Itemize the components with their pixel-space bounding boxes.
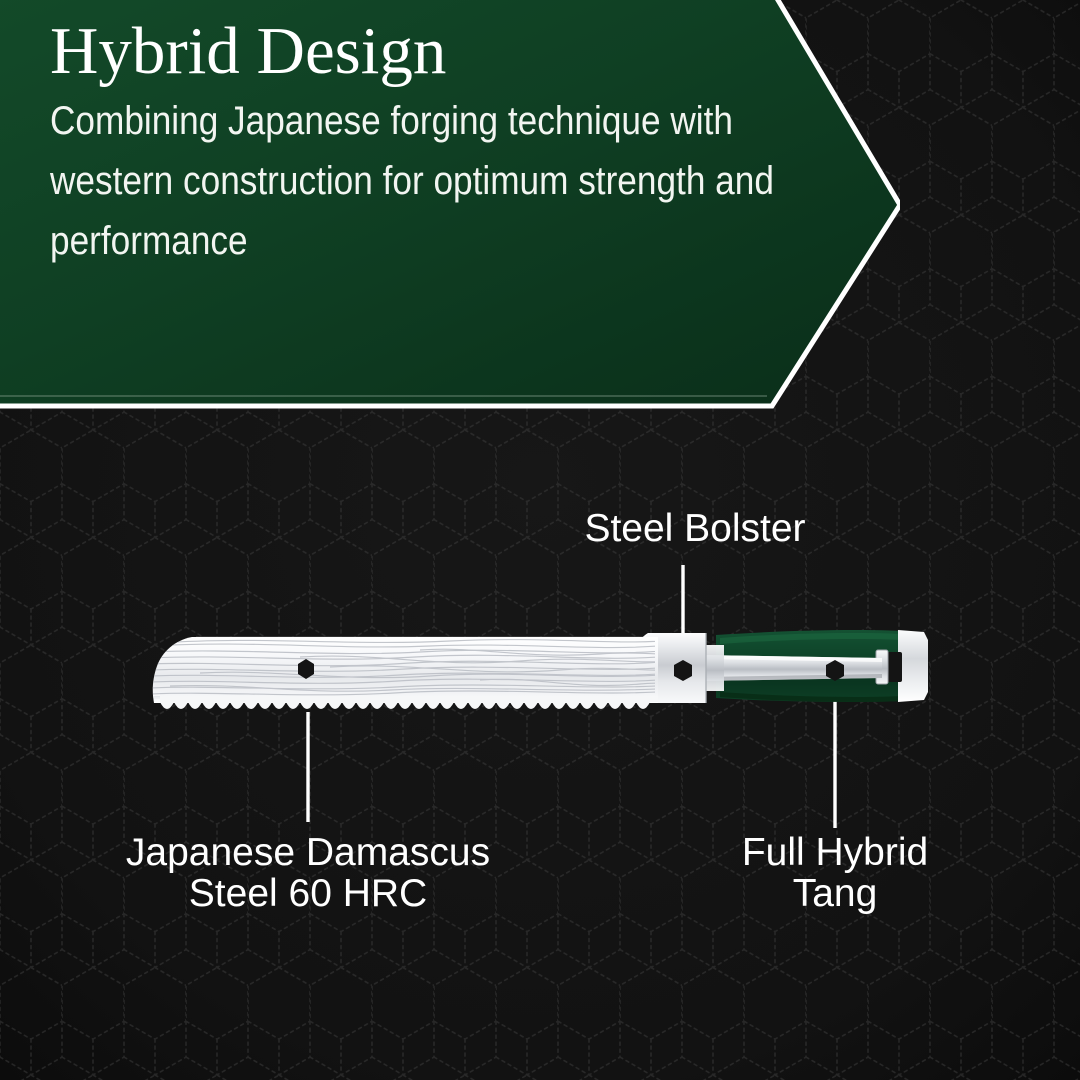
banner-text-block: Hybrid Design Combining Japanese forging… bbox=[50, 18, 820, 271]
banner-subtitle: Combining Japanese forging technique wit… bbox=[50, 91, 816, 271]
callout-label-steel-bolster: Steel Bolster bbox=[460, 508, 930, 549]
callout-label-japanese-damascus: Japanese Damascus Steel 60 HRC bbox=[58, 832, 558, 915]
page-title: Hybrid Design bbox=[50, 18, 820, 85]
hybrid-design-banner: Hybrid Design Combining Japanese forging… bbox=[0, 0, 900, 420]
infographic-canvas: Hybrid Design Combining Japanese forging… bbox=[0, 0, 1080, 1080]
callout-label-full-hybrid-tang: Full Hybrid Tang bbox=[655, 832, 1015, 915]
